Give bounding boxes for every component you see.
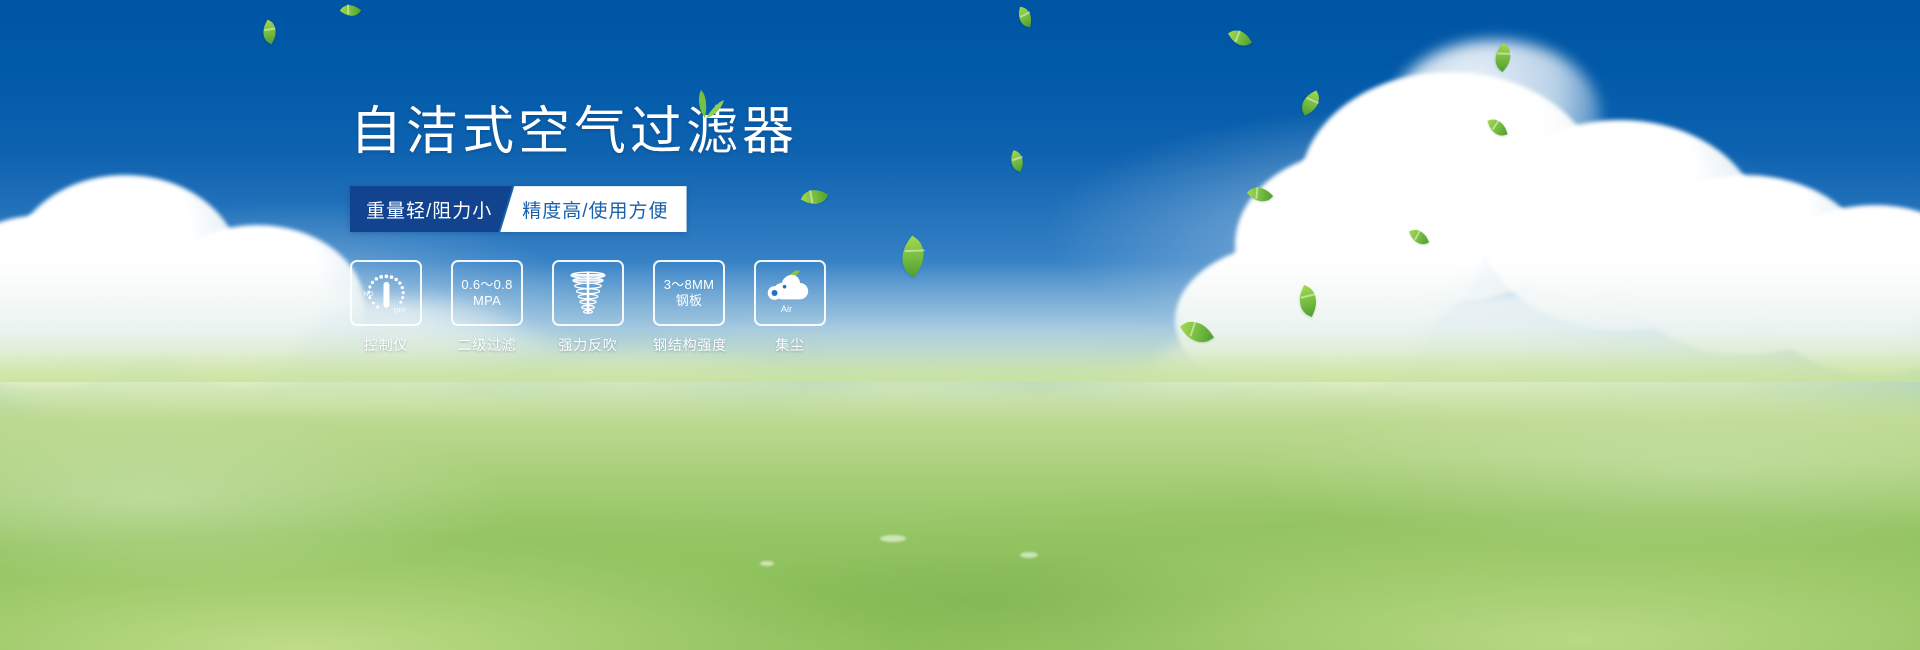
grass-speck [880, 535, 906, 542]
feature-item: 0.6～0.8 MPA 二级过滤 [451, 260, 523, 355]
grass-speck [1020, 552, 1038, 558]
feature-caption: 强力反吹 [552, 335, 624, 355]
floating-leaf [1297, 90, 1324, 115]
banner-content: 自洁式空气过滤器 重量轻/阻力小 精度高/使用方便 [350, 104, 1090, 355]
feature-item: NO OFF 控制仪 [350, 260, 422, 355]
floating-leaf [1489, 43, 1518, 72]
tagline-bar: 重量轻/阻力小 精度高/使用方便 [350, 186, 670, 232]
floating-leaf [1294, 285, 1323, 317]
feature-text-line: 0.6～0.8 [461, 277, 512, 293]
cloud-puff [1620, 175, 1870, 355]
feature-list: NO OFF 控制仪 0.6～0.8 MPA 二级过滤 [350, 260, 1090, 355]
dial-min-label: NO [364, 291, 374, 298]
cloud-puff [1235, 150, 1485, 340]
feature-icon-box: Air [754, 260, 826, 326]
feature-caption: 控制仪 [350, 335, 422, 355]
feature-caption: 集尘 [754, 335, 826, 355]
floating-leaf [340, 0, 361, 21]
cloud-puff [10, 175, 240, 360]
cloud-puff [1480, 120, 1760, 330]
control-dial-icon: NO OFF [358, 268, 414, 318]
grass-speck [760, 561, 774, 566]
tagline-primary: 重量轻/阻力小 [350, 186, 512, 232]
feature-caption: 钢结构强度 [653, 335, 725, 355]
feature-text-line: 3～8MM [664, 277, 715, 293]
feature-text-line: MPA [473, 293, 501, 309]
feature-item: 强力反吹 [552, 260, 624, 355]
air-label: Air [781, 304, 792, 314]
feature-icon-box [552, 260, 624, 326]
floating-leaf [1016, 7, 1033, 28]
feature-text-line: 钢板 [676, 293, 703, 309]
feature-caption: 二级过滤 [451, 335, 523, 355]
floating-leaf [258, 20, 281, 45]
filter-coil-icon [561, 269, 615, 317]
dial-max-label: OFF [393, 308, 406, 315]
grass-field [0, 350, 1920, 650]
floating-leaf [1247, 181, 1273, 207]
feature-icon-box: 3～8MM 钢板 [653, 260, 725, 326]
feature-icon-box: NO OFF [350, 260, 422, 326]
feature-item: Air 集尘 [754, 260, 826, 355]
title-leaf-icon [685, 88, 725, 118]
cloud-puff [1300, 72, 1600, 302]
feature-icon-box: 0.6～0.8 MPA [451, 260, 523, 326]
feature-item: 3～8MM 钢板 钢结构强度 [653, 260, 725, 355]
floating-leaf [1180, 314, 1214, 350]
product-banner: 自洁式空气过滤器 重量轻/阻力小 精度高/使用方便 [0, 0, 1920, 650]
tagline-secondary: 精度高/使用方便 [500, 186, 686, 232]
air-cloud-leaf-icon: Air [760, 268, 820, 318]
floating-leaf [1487, 116, 1507, 139]
floating-leaf [1228, 25, 1252, 50]
floating-leaf [1409, 226, 1429, 248]
